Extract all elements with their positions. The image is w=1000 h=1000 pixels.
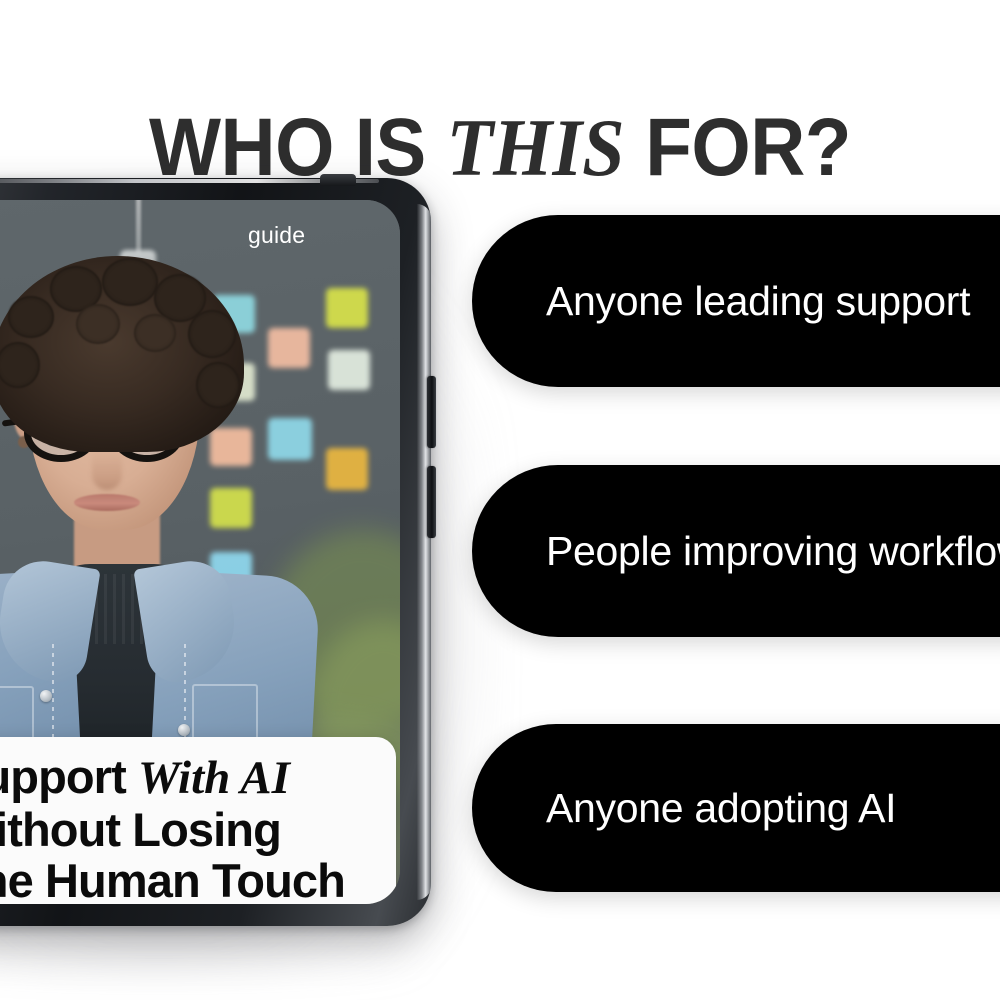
person-lips (74, 494, 140, 511)
audience-pill-1[interactable]: Anyone leading support (472, 215, 1000, 387)
volume-up-button[interactable] (427, 376, 436, 448)
hair-curl (76, 304, 120, 344)
sticky-note (326, 288, 368, 328)
device-screen[interactable]: guide Support With AI Without Losing The… (0, 200, 400, 904)
tablet-device-mockup: guide Support With AI Without Losing The… (0, 178, 431, 926)
audience-pill-3[interactable]: Anyone adopting AI (472, 724, 1000, 892)
caption-line-1-emphasis: With AI (138, 752, 290, 804)
hair-curl (8, 296, 54, 338)
device-right-rim (417, 204, 431, 900)
hair-curl (196, 362, 240, 408)
jacket-stud (40, 690, 52, 702)
hair-curl (188, 310, 236, 358)
hair-curl (102, 258, 158, 306)
caption-line-1-text: Support (0, 750, 138, 803)
sticky-note (328, 350, 370, 390)
hair-curl (134, 314, 176, 352)
sticky-note (326, 448, 368, 490)
video-caption-card: Support With AI Without Losing The Human… (0, 737, 396, 904)
jacket-stud (178, 724, 190, 736)
audience-pill-3-label: Anyone adopting AI (472, 785, 936, 832)
caption-line-1: Support With AI (0, 751, 396, 804)
poster-canvas: WHO IS THIS FOR? (0, 0, 1000, 1000)
headline-part-2: FOR? (625, 102, 851, 193)
caption-line-2: Without Losing (0, 804, 396, 855)
audience-pill-2[interactable]: People improving workflows (472, 465, 1000, 637)
screen-content: guide Support With AI Without Losing The… (0, 200, 400, 904)
audience-pill-2-label: People improving workflows (472, 528, 1000, 575)
caption-line-3: The Human Touch (0, 855, 396, 904)
headline-emphasis: THIS (447, 102, 625, 193)
audience-pill-1-label: Anyone leading support (472, 278, 1000, 325)
device-camera-nub (320, 174, 356, 186)
guide-watermark-label: guide (248, 222, 305, 248)
volume-down-button[interactable] (427, 466, 436, 538)
